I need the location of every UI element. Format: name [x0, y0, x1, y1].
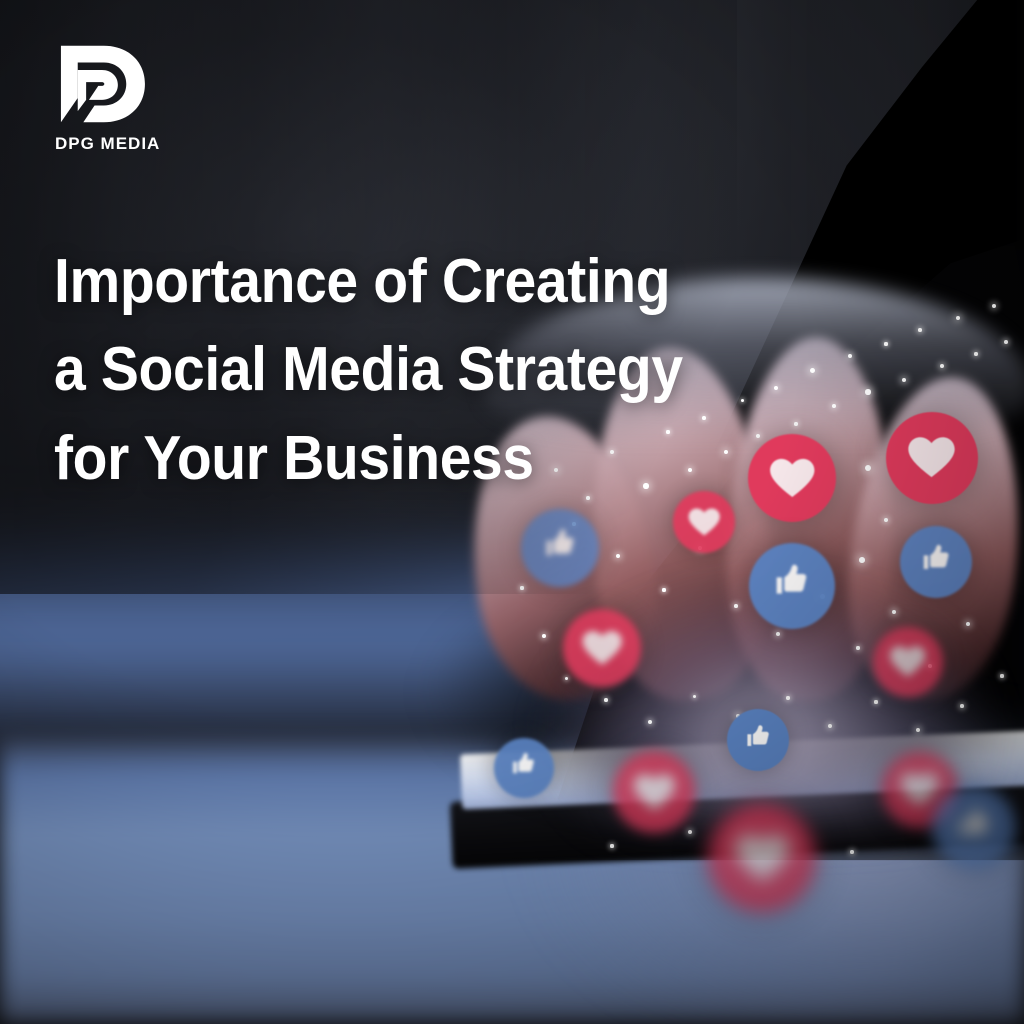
- headline-line-2: a Social Media Strategy: [54, 326, 753, 415]
- page-title: Importance of Creating a Social Media St…: [54, 238, 753, 504]
- content-layer: DPG MEDIA Importance of Creating a Socia…: [0, 0, 1024, 1024]
- brand-wordmark: DPG MEDIA: [55, 135, 255, 152]
- headline-line-3: for Your Business: [54, 415, 753, 504]
- social-media-promo-graphic: DPG MEDIA Importance of Creating a Socia…: [0, 0, 1024, 1024]
- brand-logo[interactable]: DPG MEDIA: [55, 42, 255, 152]
- headline-line-1: Importance of Creating: [54, 238, 753, 327]
- dpg-media-monogram-icon: [55, 42, 149, 126]
